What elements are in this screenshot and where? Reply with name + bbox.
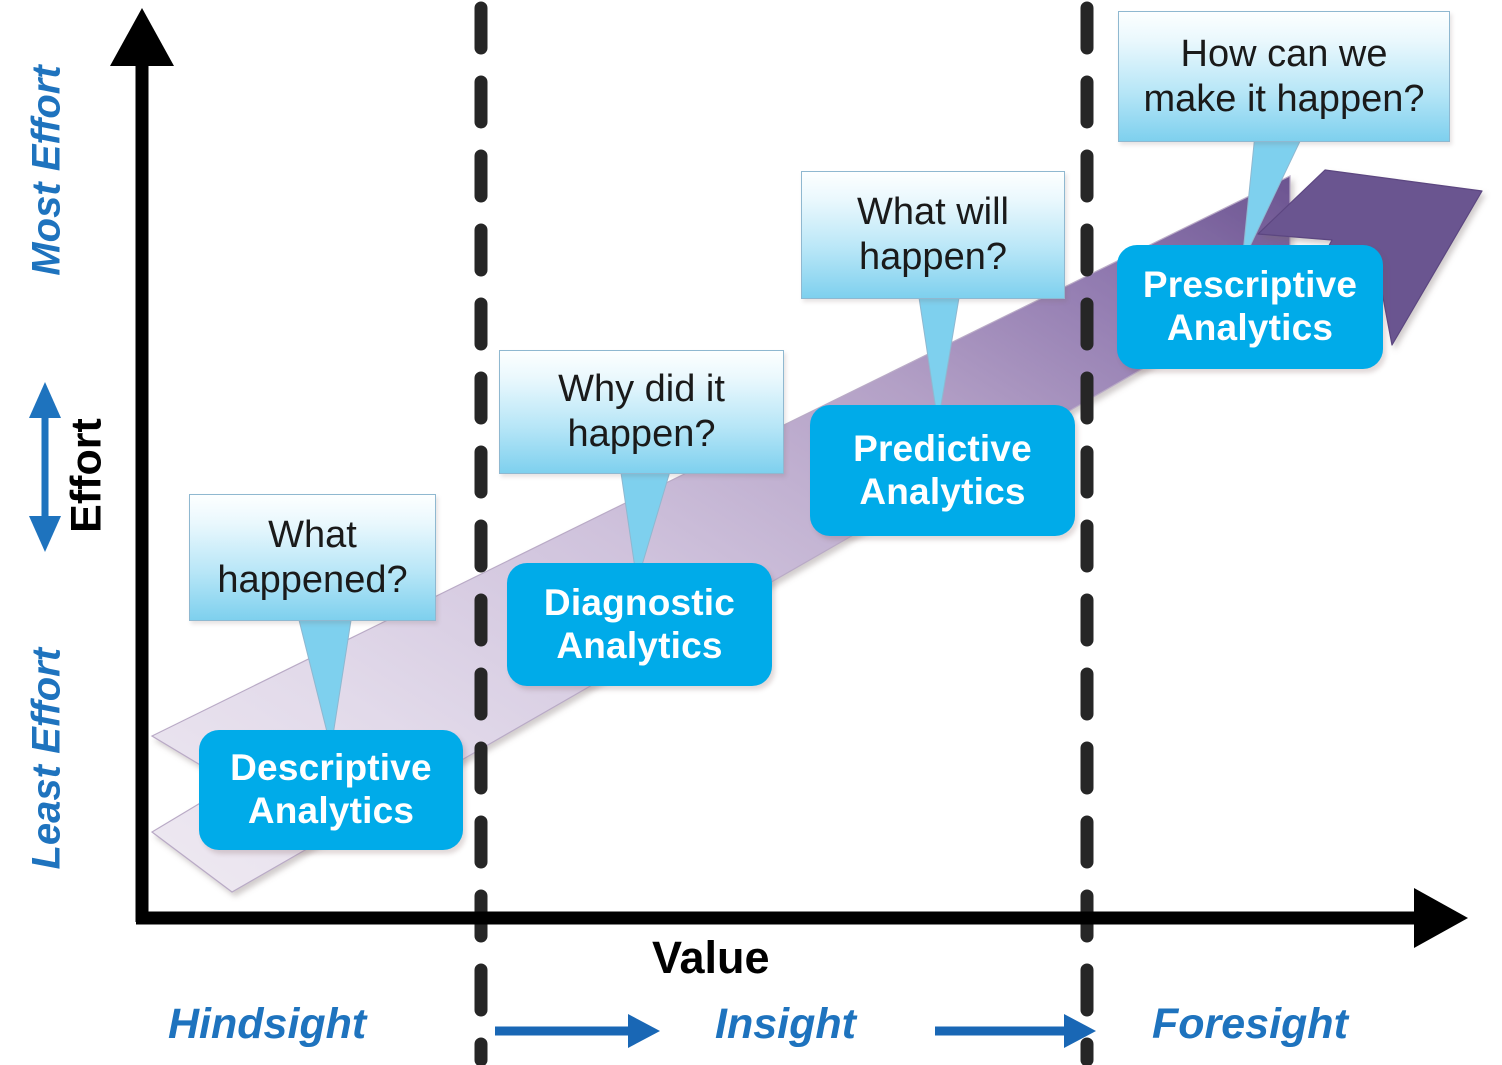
question-line-1: What will <box>857 190 1009 235</box>
x-axis <box>136 888 1468 948</box>
pill-line-1: Prescriptive <box>1143 264 1357 307</box>
analytics-pill-descriptive: Descriptive Analytics <box>199 730 463 850</box>
question-line-1: How can we <box>1181 32 1388 77</box>
analytics-pill-diagnostic: Diagnostic Analytics <box>507 563 772 686</box>
question-bubble-predictive: What will happen? <box>801 171 1065 299</box>
axis-label-least-effort: Least Effort <box>25 650 70 870</box>
effort-range-arrow <box>29 382 61 552</box>
x-axis-title: Value <box>652 932 770 984</box>
question-bubble-diagnostic: Why did it happen? <box>499 350 784 474</box>
pill-line-1: Descriptive <box>230 747 432 790</box>
question-line-2: happened? <box>217 558 407 603</box>
pill-line-1: Predictive <box>853 428 1032 471</box>
question-line-2: happen? <box>568 412 716 457</box>
question-bubble-prescriptive: How can we make it happen? <box>1118 11 1450 142</box>
question-line-1: Why did it <box>558 367 725 412</box>
analytics-pill-prescriptive: Prescriptive Analytics <box>1117 245 1383 369</box>
x-stage-label-hindsight: Hindsight <box>168 1000 366 1049</box>
question-line-1: What <box>268 513 357 558</box>
hindsight-to-insight-arrow <box>495 1014 660 1048</box>
analytics-maturity-diagram: Most Effort Least Effort Effort Value Hi… <box>0 0 1502 1065</box>
question-line-2: make it happen? <box>1144 77 1425 122</box>
pill-line-2: Analytics <box>556 625 722 668</box>
analytics-pill-predictive: Predictive Analytics <box>810 405 1075 536</box>
pill-line-2: Analytics <box>1167 307 1333 350</box>
axis-label-most-effort: Most Effort <box>25 61 70 281</box>
pill-line-2: Analytics <box>859 471 1025 514</box>
y-axis-title: Effort <box>63 386 112 566</box>
question-line-2: happen? <box>859 235 1007 280</box>
y-axis <box>110 8 174 922</box>
pill-line-2: Analytics <box>248 790 414 833</box>
pill-line-1: Diagnostic <box>544 582 735 625</box>
insight-to-foresight-arrow <box>935 1014 1096 1048</box>
x-stage-label-insight: Insight <box>715 1000 856 1049</box>
question-bubble-descriptive: What happened? <box>189 494 436 621</box>
x-stage-label-foresight: Foresight <box>1152 1000 1348 1049</box>
